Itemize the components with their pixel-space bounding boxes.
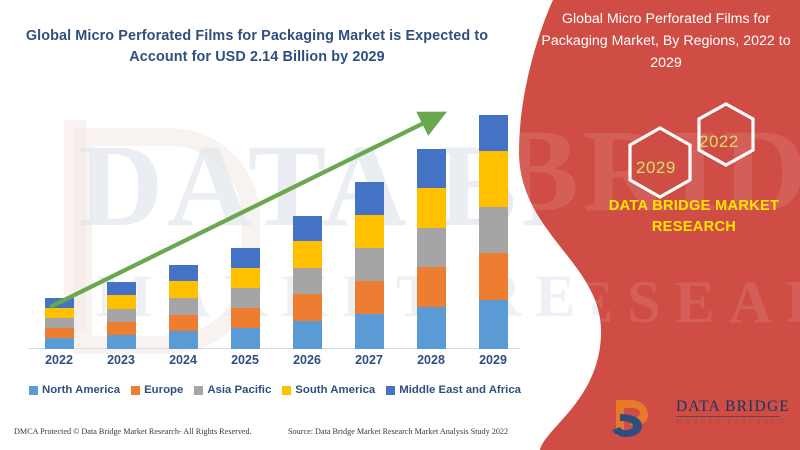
x-axis-labels: 20222023202420252026202720282029 [28,353,524,373]
x-axis-label-2025: 2025 [215,353,275,373]
x-axis-label-2028: 2028 [401,353,461,373]
legend-item[interactable]: South America [282,384,375,396]
legend-swatch-icon [131,386,140,395]
logo-title: DATA BRIDGE [676,398,790,416]
legend-label: Asia Pacific [207,384,271,396]
legend-label: Middle East and Africa [399,384,521,396]
x-axis-label-2027: 2027 [339,353,399,373]
legend-swatch-icon [386,386,395,395]
legend-label: Europe [144,384,183,396]
infographic-canvas: DATA BRIDGE MARKET RESEARCH BRIDGE RESEA… [0,0,800,450]
legend-swatch-icon [29,386,38,395]
x-axis-label-2026: 2026 [277,353,337,373]
x-axis-label-2029: 2029 [463,353,523,373]
growth-arrow-icon [28,95,498,335]
legend-item[interactable]: Europe [131,384,183,396]
legend-item[interactable]: Middle East and Africa [386,384,521,396]
x-axis-label-2022: 2022 [29,353,89,373]
x-axis-label-2023: 2023 [91,353,151,373]
bar-segment [45,338,74,349]
footer-copyright: DMCA Protected © Data Bridge Market Rese… [14,427,252,436]
legend-item[interactable]: Asia Pacific [194,384,271,396]
legend-label: North America [42,384,120,396]
dbmr-logo: DATA BRIDGE MARKET RESEARCH [610,396,786,440]
brand-name: DATA BRIDGE MARKET RESEARCH [596,196,792,238]
dbmr-logo-mark-icon [610,396,672,440]
hexagon-2029-label: 2029 [636,158,676,178]
legend-swatch-icon [194,386,203,395]
chart-legend: North AmericaEuropeAsia PacificSouth Ame… [20,384,530,396]
hexagon-group: 2022 2029 [598,96,778,206]
legend-item[interactable]: North America [29,384,120,396]
bar-segment [107,335,136,349]
legend-swatch-icon [282,386,291,395]
panel-title: Global Micro Perforated Films for Packag… [540,8,792,74]
footer: DMCA Protected © Data Bridge Market Rese… [0,425,540,447]
logo-subtitle: MARKET RESEARCH [676,417,787,426]
hexagon-shapes [598,96,778,206]
x-axis-label-2024: 2024 [153,353,213,373]
legend-label: South America [295,384,375,396]
hexagon-2022-label: 2022 [699,132,739,152]
page-title: Global Micro Perforated Films for Packag… [22,26,492,68]
footer-source: Source: Data Bridge Market Research Mark… [288,427,508,436]
